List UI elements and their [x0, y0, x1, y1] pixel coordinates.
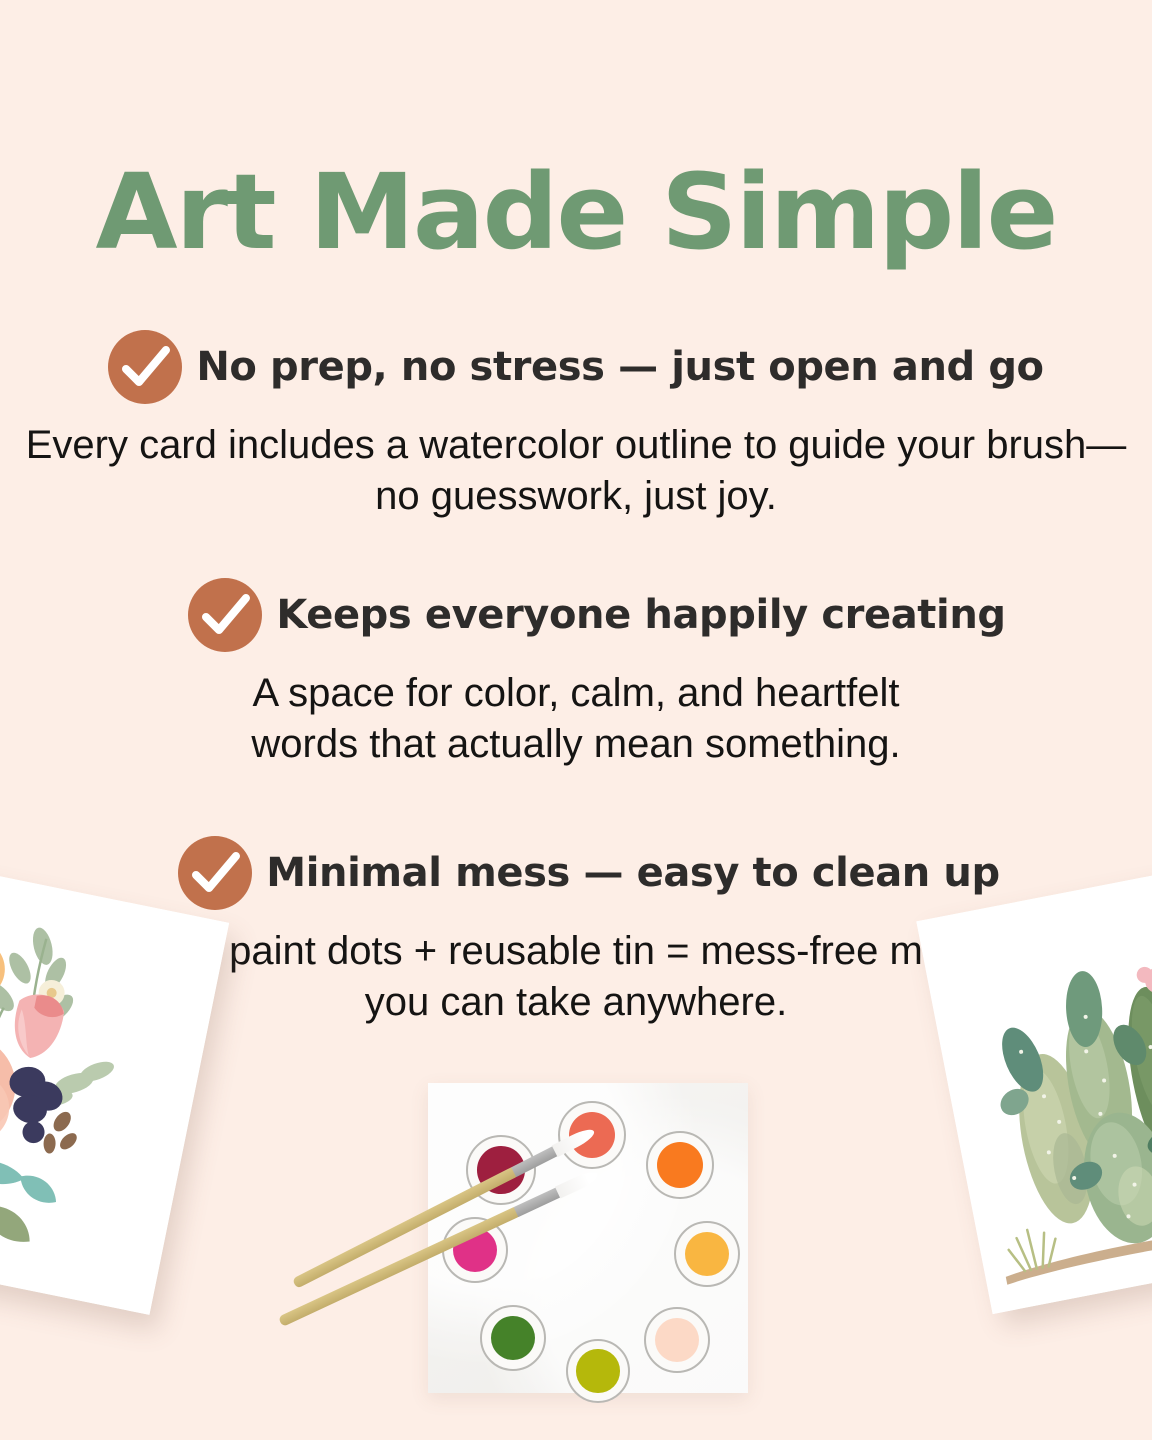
- check-circle-icon: [178, 836, 252, 910]
- feature-2-title: Keeps everyone happily creating: [276, 592, 1005, 638]
- feature-1-body-line-1: Every card includes a watercolor outline…: [0, 420, 1152, 471]
- feature-1-body-line-2: no guesswork, just joy.: [0, 471, 1152, 522]
- feature-3-title: Minimal mess — easy to clean up: [266, 850, 999, 896]
- feature-3-heading-row: Minimal mess — easy to clean up: [0, 836, 1152, 910]
- cactus-card-image: [916, 870, 1152, 1314]
- promo-graphic: Art Made Simple No prep, no stress — jus…: [0, 0, 1152, 1440]
- paint-dot-green: [480, 1305, 546, 1371]
- paint-palette: [428, 1083, 748, 1393]
- check-circle-icon: [188, 578, 262, 652]
- paint-dot-orange: [646, 1131, 714, 1199]
- check-circle-icon: [108, 330, 182, 404]
- floral-card-image: [0, 869, 229, 1315]
- feature-block-1: No prep, no stress — just open and go Ev…: [0, 330, 1152, 522]
- feature-2-body-line-2: words that actually mean something.: [0, 719, 1152, 770]
- paint-dot-olive: [566, 1339, 630, 1403]
- feature-block-2: Keeps everyone happily creating A space …: [0, 578, 1152, 770]
- feature-1-body: Every card includes a watercolor outline…: [0, 420, 1152, 522]
- feature-2-body: A space for color, calm, and heartfelt w…: [0, 668, 1152, 770]
- feature-2-body-line-1: A space for color, calm, and heartfelt: [0, 668, 1152, 719]
- feature-1-heading-row: No prep, no stress — just open and go: [0, 330, 1152, 404]
- page-title: Art Made Simple: [0, 158, 1152, 267]
- feature-2-heading-row: Keeps everyone happily creating: [0, 578, 1152, 652]
- paint-dot-pale-peach: [644, 1307, 710, 1373]
- feature-1-title: No prep, no stress — just open and go: [196, 344, 1043, 390]
- paint-dot-amber: [674, 1221, 740, 1287]
